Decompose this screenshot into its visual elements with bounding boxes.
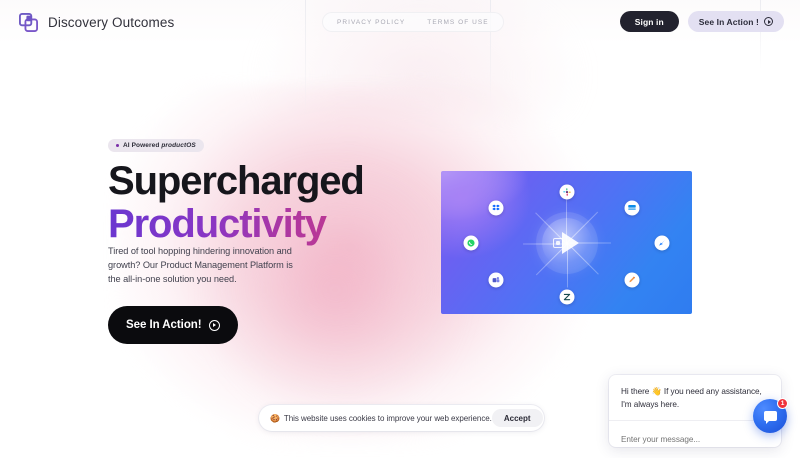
cta-label: See In Action! [126,319,202,331]
node-figma-icon[interactable] [624,272,639,287]
cookie-banner: 🍪 This website uses cookies to improve y… [259,405,544,431]
node-slack-icon[interactable] [559,185,574,200]
play-triangle-icon [562,232,579,254]
cookie-message-wrap: 🍪 This website uses cookies to improve y… [270,414,492,423]
node-teams-icon[interactable] [489,272,504,287]
chat-launcher-button[interactable]: 1 [753,399,787,433]
site-header: Discovery Outcomes PRIVACY POLICY TERMS … [0,0,800,44]
badge-label: AI Powered productOS [123,142,196,149]
chat-unread-badge: 1 [777,398,788,409]
node-trello-icon[interactable] [624,201,639,216]
header-actions: Sign in See In Action ! [620,11,784,32]
badge-emphasis: productOS [161,142,195,149]
headline-line-2: Productivity [108,202,364,246]
node-dropbox-icon[interactable] [489,201,504,216]
see-in-action-cta-button[interactable]: See In Action! [108,306,238,344]
hero-paragraph: Tired of tool hopping hindering innovati… [108,244,298,286]
nav-link-privacy-policy[interactable]: PRIVACY POLICY [337,19,405,26]
see-in-action-header-button[interactable]: See In Action ! [688,11,784,32]
nav-link-terms-of-use[interactable]: TERMS OF USE [427,19,488,26]
hub-play-button[interactable] [542,218,592,268]
play-circle-icon [764,17,773,26]
node-jira-icon[interactable] [654,235,669,250]
badge-dot-icon [116,144,119,147]
discovery-outcomes-mark-icon [553,238,563,248]
node-zendesk-icon[interactable] [559,289,574,304]
badge-prefix: AI Powered [123,142,161,149]
hero-headline: Supercharged Productivity [108,160,364,246]
hero-integrations-visual[interactable] [441,171,692,314]
headline-line-1: Supercharged [108,160,364,202]
cookie-emoji-icon: 🍪 [270,414,280,423]
cookie-message: This website uses cookies to improve you… [284,414,492,423]
chat-message-input[interactable] [621,435,769,444]
see-in-action-header-label: See In Action ! [699,17,759,27]
play-circle-icon [209,320,220,331]
integration-hub-diagram [441,171,692,314]
cookie-accept-button[interactable]: Accept [492,409,543,427]
brand-name: Discovery Outcomes [48,15,174,30]
discovery-outcomes-logo-icon [18,12,39,33]
ai-powered-badge: AI Powered productOS [108,139,204,152]
node-whatsapp-icon[interactable] [464,235,479,250]
brand-logo[interactable]: Discovery Outcomes [18,12,174,33]
sign-in-button[interactable]: Sign in [620,11,679,32]
primary-nav: PRIVACY POLICY TERMS OF USE [322,12,504,32]
chat-bubble-icon [764,411,777,421]
